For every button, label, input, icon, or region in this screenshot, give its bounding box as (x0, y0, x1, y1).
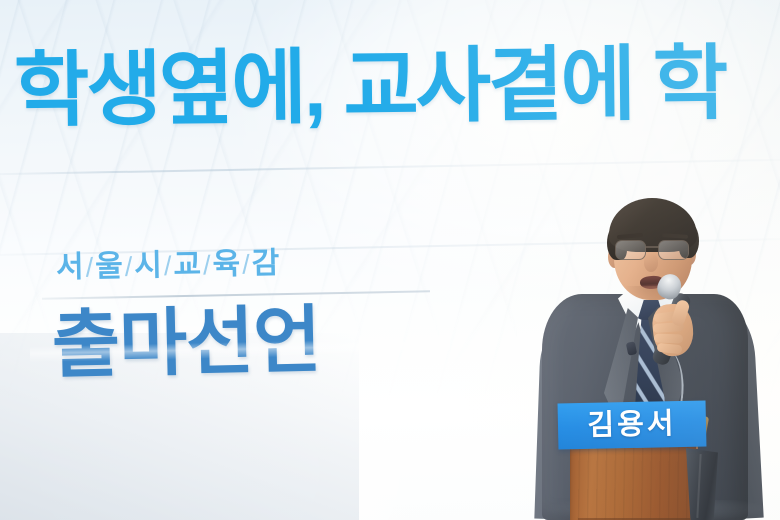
eyeglass-lens-left (615, 240, 646, 260)
sub-label-separator-5: / (241, 249, 252, 279)
sub-label-char-4: 교 (173, 248, 202, 282)
podium-drape-cloth (686, 448, 718, 520)
finger-ring (654, 333, 683, 343)
sub-label-char-2: 울 (95, 250, 124, 284)
banner-sub-label: 서/울/시/교/육/감 (56, 238, 281, 286)
nose (644, 254, 658, 272)
sub-label-char-3: 시 (134, 249, 163, 283)
podium-wood-front (570, 446, 696, 520)
podium: 김용서 (558, 402, 738, 520)
sub-label-separator-4: / (202, 250, 213, 280)
eyeglass-lens-right (658, 240, 689, 260)
banner-headline: 학생옆에, 교사곁에 학 (14, 41, 780, 132)
name-placard-text: 김용서 (587, 410, 677, 441)
sub-label-separator-1: / (84, 252, 95, 282)
sub-label-char-6: 감 (251, 247, 280, 281)
name-placard: 김용서 (558, 400, 707, 449)
banner-big-line: 출마선언 (51, 303, 321, 383)
campaign-announcement-photo: 학생옆에, 교사곁에 학 서/울/시/교/육/감 출마선언 (0, 0, 780, 520)
sub-label-char-5: 육 (212, 248, 241, 282)
sub-label-char-1: 서 (56, 251, 85, 285)
